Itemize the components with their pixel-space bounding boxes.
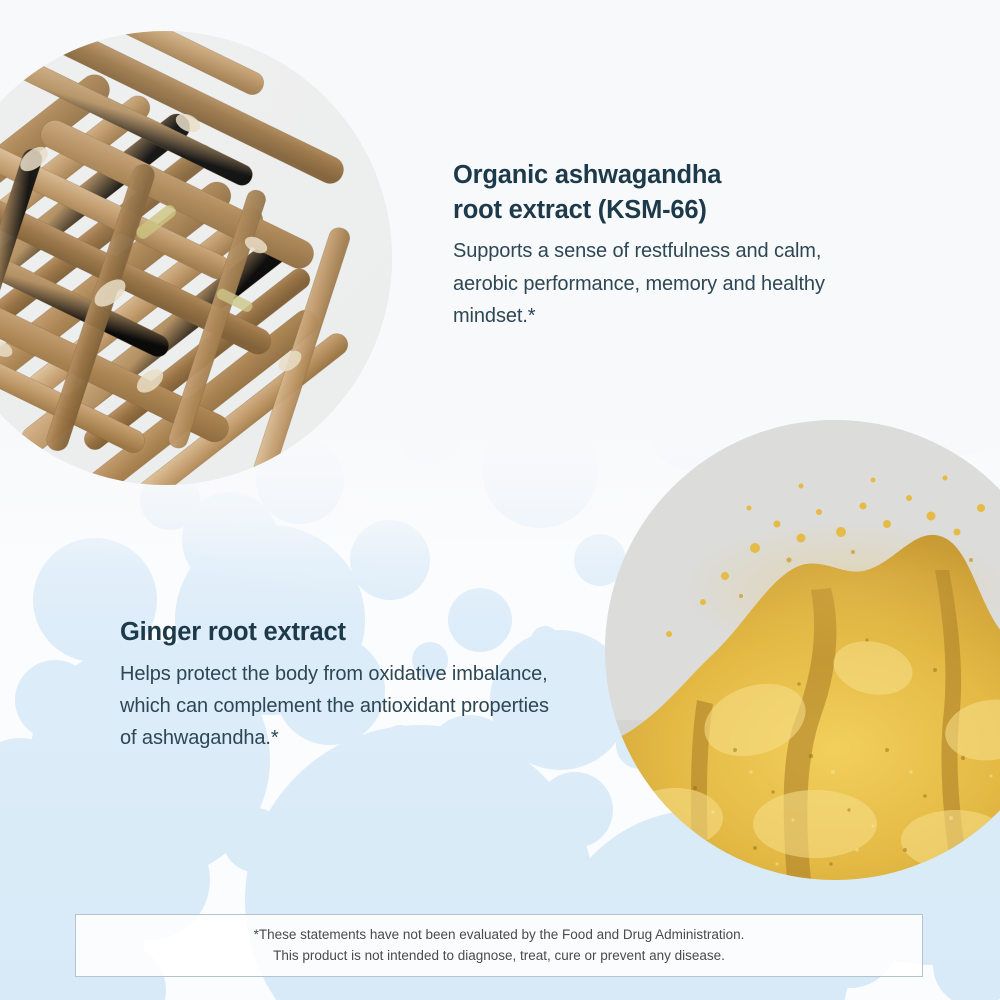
disclaimer-line-2: This product is not intended to diagnose… (273, 946, 725, 966)
ingredient-description-ashwagandha: Supports a sense of restfulness and calm… (453, 235, 853, 332)
disclaimer-line-1: *These statements have not been evaluate… (254, 925, 745, 945)
ingredient-title-ashwagandha: Organic ashwagandha root extract (KSM-66… (453, 158, 853, 227)
ingredient-title-ginger: Ginger root extract (120, 615, 550, 650)
ingredient-title-line-2: root extract (KSM-66) (453, 196, 707, 224)
ingredient-benefits-panel: Organic ashwagandha root extract (KSM-66… (0, 0, 1000, 1000)
fda-disclaimer-box: *These statements have not been evaluate… (75, 914, 923, 977)
ingredient-description-ginger: Helps protect the body from oxidative im… (120, 658, 550, 755)
ingredient-block-ashwagandha: Organic ashwagandha root extract (KSM-66… (453, 158, 853, 333)
ingredient-title-line-1: Organic ashwagandha (453, 161, 721, 189)
ingredient-block-ginger: Ginger root extract Helps protect the bo… (120, 615, 550, 755)
